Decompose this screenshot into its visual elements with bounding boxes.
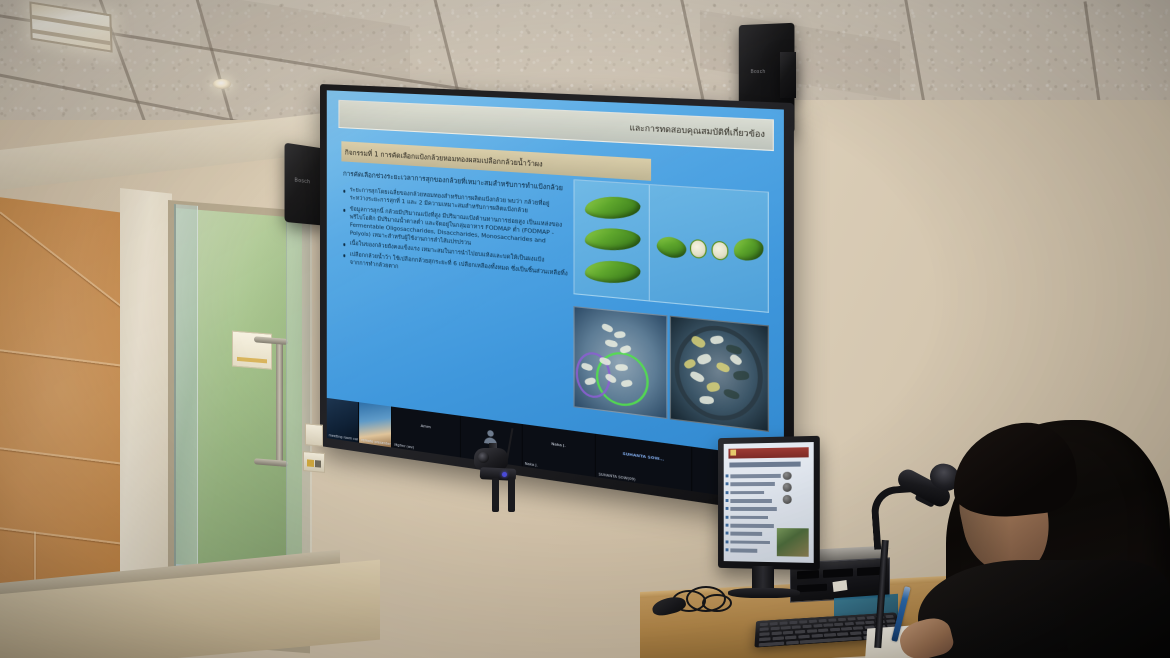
slide-bullet-list: ระยะการสุกโดยเฉลี่ยของกล้วยหอมทองสำหรับก… [343, 187, 568, 291]
desktop-monitor[interactable] [718, 436, 820, 570]
monitor-slide-heading [729, 462, 801, 468]
vc-tile-room[interactable]: meeting room camera [327, 398, 359, 443]
monitor-slide-thumbnail [782, 471, 791, 479]
conference-room-photo: Bosch Bosch และการทดสอบคุณสมบัติที่เกี่ย… [0, 0, 1170, 658]
rack-slot [823, 568, 853, 578]
photo-divider [649, 185, 650, 301]
slide-photo-row [573, 306, 768, 432]
photo-dried-banana-baskets [573, 306, 667, 419]
speaker-brand-label: Bosch [751, 69, 766, 75]
banana-chip [600, 322, 613, 333]
vc-participant-center-name: SUHANTA SOW... [596, 447, 691, 466]
rack-slot [797, 570, 819, 579]
display-screen[interactable]: และการทดสอบคุณสมบัติที่เกี่ยวข้อง กิจกรร… [327, 90, 784, 504]
monitor-slide-title-banner [728, 447, 809, 459]
slide-activity-text: กิจกรรมที่ 1 การคัดเลือกแป้งกล้วยหอมทองผ… [345, 146, 543, 169]
banana-chip [615, 364, 629, 371]
rack-slot [797, 584, 827, 593]
camera-mount-legs [492, 478, 518, 512]
monitor-slide-bullet [731, 532, 763, 536]
monitor-slide-bullet [731, 540, 770, 544]
monitor-slide-bullet [731, 491, 765, 495]
banana-cut-end [654, 234, 687, 262]
slide-header-text: และการทดสอบคุณสมบัติที่เกี่ยวข้อง [630, 121, 765, 141]
monitor-slide-bullet [731, 507, 777, 511]
monitor-slide-bullet [731, 524, 774, 528]
wall-plate-upper[interactable] [305, 423, 323, 447]
monitor-slide-bullet [731, 515, 768, 519]
monitor-slide-bullet [731, 482, 776, 486]
recessed-downlight [213, 79, 231, 89]
monitor-slide-bullet [731, 499, 772, 503]
speaker-bracket-right [780, 52, 796, 98]
monitor-screen[interactable] [724, 442, 814, 563]
banana-piece [699, 396, 714, 405]
banana-whole [584, 195, 642, 218]
rack-label-tag [833, 580, 848, 592]
banana-slice [689, 239, 707, 259]
vc-tile-presenter[interactable]: remote presenter [359, 402, 392, 447]
camera-status-led [502, 472, 507, 477]
avatar-icon [488, 430, 494, 437]
camera-lens-icon [478, 452, 489, 463]
door-handle[interactable] [276, 338, 283, 467]
banana-chip [604, 339, 618, 349]
monitor-slide-thumbnail [782, 495, 791, 503]
vc-participant-center-name: Amm [392, 419, 459, 433]
wall-plate-outlet[interactable] [303, 451, 325, 473]
slide-photo-bananas [573, 179, 768, 313]
banana-cut-end [730, 236, 765, 262]
photo-sliced-banana-pan [669, 315, 768, 431]
monitor-slide-bullet [731, 548, 758, 552]
speaker-brand-label: Bosch [294, 177, 310, 185]
banana-slice [711, 241, 729, 261]
monitor-slide-photo [777, 528, 809, 557]
banana-whole [584, 261, 642, 283]
vc-participant-name: Naka J. [525, 461, 538, 467]
banana-chip [613, 331, 626, 339]
banana-whole [584, 228, 642, 251]
vc-participant-center-name: Naka J. [523, 437, 595, 452]
slide-header-bar: และการทดสอบคุณสมบัติที่เกี่ยวข้อง [339, 100, 774, 151]
monitor-slide-bullet [731, 474, 781, 478]
presentation-slide: และการทดสอบคุณสมบัติที่เกี่ยวข้อง กิจกรร… [327, 90, 784, 504]
monitor-slide-thumbnail [782, 483, 791, 491]
